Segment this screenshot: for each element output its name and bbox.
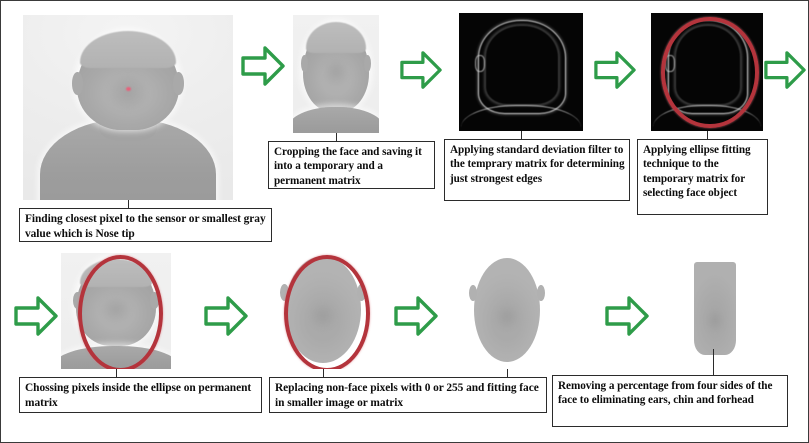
arrow-right-icon-7	[393, 294, 439, 338]
caption-step-3: Applying standard deviation filter to th…	[444, 139, 630, 201]
grayscale-face-with-ellipse	[61, 253, 171, 369]
caption-step-8: Removing a percentage from four sides of…	[552, 375, 788, 427]
caption-step-2: Cropping the face and saving it into a t…	[268, 141, 435, 189]
face-shading	[702, 304, 728, 336]
face-shading	[489, 299, 526, 334]
connector-step-2	[336, 133, 337, 141]
connector-step-5	[116, 369, 117, 377]
ear-edge-contour	[475, 55, 486, 71]
fitted-ellipse-overlay	[284, 255, 370, 369]
caption-step-1: Finding closest pixel to the sensor or s…	[19, 208, 272, 242]
connector-step-1	[128, 200, 129, 208]
ear-left-shape	[72, 72, 83, 94]
arrow-right-icon-5	[13, 294, 59, 338]
connector-step-7	[507, 369, 508, 377]
caption-step-5: Chossing pixels inside the ellipse on pe…	[19, 377, 262, 413]
pipeline-figure: Finding closest pixel to the sensor or s…	[0, 0, 809, 443]
caption-step-6: Replacing non-face pixels with 0 or 255 …	[269, 377, 547, 413]
edge-map-with-fitted-ellipse	[651, 13, 763, 131]
ellipse-masked-face	[461, 253, 553, 369]
arrow-right-icon-3	[593, 49, 637, 91]
face-shading	[317, 50, 355, 95]
face-fitted-in-smaller-matrix	[273, 253, 373, 369]
arrow-right-icon-2	[399, 49, 443, 91]
cropped-face-grayscale	[293, 15, 379, 133]
ear-right-shape	[537, 285, 545, 302]
standard-deviation-edge-map	[459, 13, 583, 131]
torso-shape	[293, 107, 379, 133]
ear-left-shape	[469, 285, 477, 302]
face-shading	[99, 65, 158, 121]
fitted-ellipse-overlay	[78, 255, 163, 369]
arrow-right-icon-6	[203, 294, 249, 338]
connector-step-8	[713, 349, 714, 375]
connector-step-4	[707, 131, 708, 139]
final-cropped-face	[669, 253, 761, 369]
arrow-right-icon-4	[763, 49, 807, 91]
ear-left-shape	[301, 55, 308, 72]
inner-edge-contour	[485, 25, 559, 105]
arrow-right-icon-8	[604, 294, 650, 338]
connector-step-3	[521, 131, 522, 139]
fitted-ellipse-overlay	[661, 17, 759, 129]
arrow-right-icon-1	[240, 44, 286, 88]
caption-step-4: Applying ellipse fitting technique to th…	[637, 139, 768, 215]
ear-right-shape	[173, 72, 184, 94]
depth-image-full-torso	[23, 15, 233, 200]
connector-step-6	[323, 369, 324, 377]
